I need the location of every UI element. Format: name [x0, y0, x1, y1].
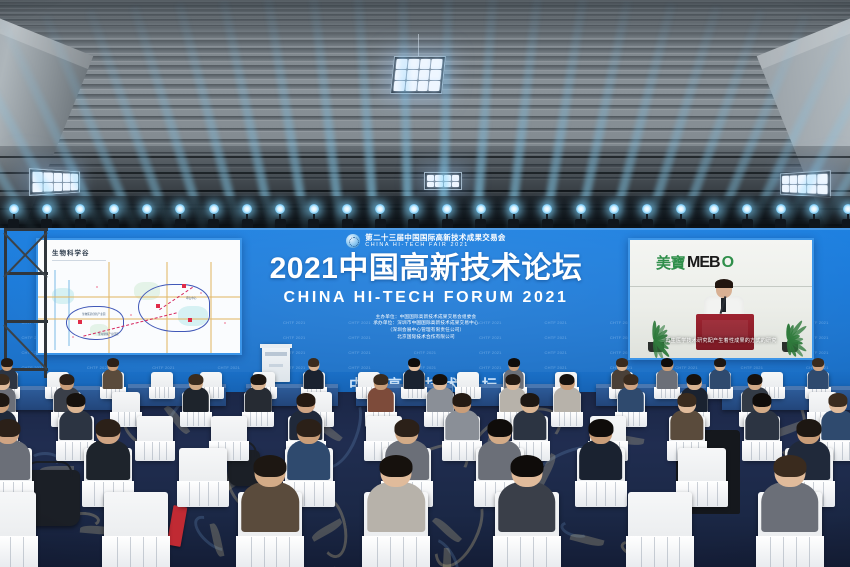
- moving-head-light: [809, 204, 820, 230]
- mebo-brand-logo: 美寶 MEB O: [656, 252, 733, 273]
- audience-hair: [588, 419, 613, 437]
- watermark-tile: CHTF 2021: [523, 350, 588, 355]
- audience-hair: [1, 358, 13, 367]
- watermark-tile: CHTF 2021: [327, 365, 392, 370]
- ceiling-rib: [0, 128, 850, 131]
- audience-hair: [0, 419, 20, 437]
- led-video-wall: CHTF 2021CHTF 2021CHTF 2021CHTF 2021CHTF…: [0, 228, 850, 376]
- audience-hair: [677, 393, 696, 407]
- watermark-tile: CHTF 2021: [458, 350, 523, 355]
- moving-head-light: [508, 204, 519, 230]
- ceiling-rib: [0, 116, 850, 120]
- audience-hair: [687, 374, 702, 385]
- audience-torso: [182, 387, 208, 411]
- moving-head-light: [175, 204, 186, 230]
- audience-chair: [104, 492, 168, 567]
- ceiling-light-panel-icon: [780, 170, 831, 198]
- audience-hair: [773, 455, 806, 477]
- moving-head-light: [608, 204, 619, 230]
- audience-hair: [296, 393, 315, 407]
- audience-hair: [254, 455, 287, 477]
- conference-hall-photo: CHTF 2021CHTF 2021CHTF 2021CHTF 2021CHTF…: [0, 0, 850, 567]
- audience-torso: [808, 369, 829, 389]
- audience-hair: [510, 455, 543, 477]
- audience-member: [247, 375, 270, 419]
- audience-torso: [498, 482, 556, 532]
- map-pin-icon: [156, 304, 160, 308]
- audience-hair: [453, 393, 472, 407]
- audience-hair: [308, 358, 320, 367]
- audience-member: [89, 420, 127, 492]
- audience-member: [515, 394, 544, 450]
- audience-hair: [813, 358, 825, 367]
- chtf-header: 第二十三届中国国际高新技术成果交易会 CHINA HI-TECH FAIR 20…: [228, 234, 624, 249]
- forum-title-en: CHINA HI-TECH FORUM 2021: [228, 289, 624, 307]
- audience-hair: [487, 419, 512, 437]
- map-pin-icon: [78, 320, 82, 324]
- moving-head-light: [575, 204, 586, 230]
- watermark-tile: CHTF 2021: [523, 365, 588, 370]
- moving-head-light: [275, 204, 286, 230]
- chtf-title-cn: 第二十三届中国国际高新技术成果交易会: [365, 234, 505, 242]
- mebo-brand-o: O: [722, 254, 733, 272]
- audience-torso: [404, 369, 425, 389]
- ceiling-light-panel-icon: [390, 56, 446, 94]
- audience-hair: [753, 393, 772, 407]
- moving-head-light: [375, 204, 386, 230]
- audience-member: [245, 456, 295, 548]
- watermark-tile: CHTF 2021: [131, 365, 196, 370]
- moving-head-light: [675, 204, 686, 230]
- audience-hair: [380, 455, 413, 477]
- ceiling-rib: [0, 25, 850, 32]
- audience-hair: [394, 419, 419, 437]
- audience-torso: [86, 440, 130, 480]
- audience-member: [658, 359, 676, 394]
- audience-torso: [670, 410, 703, 441]
- audience-member: [405, 359, 423, 394]
- lectern-icon: [696, 314, 754, 350]
- ceiling-rib: [0, 105, 850, 109]
- map-pin-icon: [188, 318, 192, 322]
- ceiling-rib: [0, 94, 850, 98]
- audience-hair: [623, 374, 638, 385]
- audience-torso: [241, 482, 299, 532]
- video-caption: 再生医学技术研究配产生着性成果的方式的研究: [630, 337, 812, 344]
- potted-palm-icon: [636, 302, 676, 352]
- moving-head-light: [75, 204, 86, 230]
- audience-hair: [432, 374, 447, 385]
- audience-member: [61, 394, 90, 450]
- watermark-tile: CHTF 2021: [392, 350, 457, 355]
- organizer-line: （深圳会展中心管理有限责任公司）: [228, 327, 624, 334]
- moving-head-light: [8, 204, 19, 230]
- moving-head-light: [41, 204, 52, 230]
- audience-chair: [628, 492, 692, 567]
- stage-light-bar: [0, 196, 850, 232]
- map-graphic: 生物医药创新产业园 生命健康产业园区 坪山中心: [38, 262, 240, 355]
- moving-head-light: [242, 204, 253, 230]
- organizer-line: 北京国际技术合作有限公司: [228, 334, 624, 341]
- mebo-brand-en: MEB: [687, 254, 720, 272]
- mebo-brand-cn: 美寶: [656, 252, 685, 273]
- right-video-panel: 美寶 MEB O 再生医学: [628, 238, 814, 360]
- audience-hair: [0, 374, 10, 385]
- ceiling-rib: [0, 48, 850, 54]
- moving-head-light: [308, 204, 319, 230]
- watermark-tile: CHTF 2021: [196, 365, 261, 370]
- audience-hair: [373, 374, 388, 385]
- map-pin-icon: [182, 284, 186, 288]
- audience-chair: [179, 448, 227, 506]
- left-slide-title: 生物科学谷: [52, 247, 240, 257]
- potted-palm-icon: [770, 302, 810, 352]
- map-label: 坪山中心: [186, 296, 196, 300]
- ceiling-light-panel-icon: [29, 168, 80, 196]
- audience-hair: [505, 374, 520, 385]
- audience-chair: [137, 416, 173, 460]
- audience-member: [556, 375, 579, 419]
- audience-torso: [761, 482, 819, 532]
- audience-member: [619, 375, 642, 419]
- audience-member: [448, 394, 477, 450]
- audience-member: [809, 359, 827, 394]
- left-slide-panel: 生物科学谷: [36, 238, 242, 355]
- moving-head-light: [475, 204, 486, 230]
- ceiling-rib: [0, 139, 850, 142]
- audience-member: [104, 359, 122, 394]
- audience-chair: [151, 372, 173, 398]
- audience-member: [673, 394, 702, 450]
- moving-head-light: [108, 204, 119, 230]
- moving-head-light: [642, 204, 653, 230]
- audience-chair: [0, 492, 36, 567]
- audience-hair: [96, 419, 121, 437]
- audience-torso: [446, 410, 479, 441]
- moving-head-light: [775, 204, 786, 230]
- map-label: 生命健康产业园区: [98, 332, 119, 336]
- audience-hair: [409, 358, 421, 367]
- fixture-hanger: [418, 34, 419, 58]
- audience-hair: [828, 393, 847, 407]
- audience-torso: [554, 387, 580, 411]
- forum-title-cn: 2021中国高新技术论坛: [228, 254, 624, 284]
- audience-torso: [657, 369, 678, 389]
- audience-torso: [368, 482, 426, 532]
- watermark-tile: CHTF 2021: [327, 350, 392, 355]
- audience-torso: [710, 369, 731, 389]
- chtf-title-en: CHINA HI-TECH FAIR 2021: [365, 243, 505, 249]
- audience-member: [502, 456, 552, 548]
- audience-torso: [245, 387, 271, 411]
- audience-member: [371, 456, 421, 548]
- audience-hair: [661, 358, 673, 367]
- audience-hair: [508, 358, 520, 367]
- audience-hair: [296, 419, 321, 437]
- audience-hair: [107, 358, 119, 367]
- audience-member: [369, 375, 392, 419]
- moving-head-light: [742, 204, 753, 230]
- audience-member: [765, 456, 815, 548]
- scaffold-tower: [4, 228, 48, 378]
- moving-head-light: [208, 204, 219, 230]
- audience-hair: [520, 393, 539, 407]
- audience-hair: [188, 374, 203, 385]
- organizer-line: 承办单位：深圳市中国国际高新技术成果交易中心: [228, 320, 624, 327]
- audience-torso: [617, 387, 643, 411]
- audience-torso: [746, 410, 779, 441]
- audience-member: [290, 420, 328, 492]
- audience-member: [184, 375, 207, 419]
- map-label: 生物医药创新产业园: [82, 312, 105, 316]
- watermark-tile: CHTF 2021: [719, 365, 784, 370]
- organizer-block: 主办单位：中国国际高新技术成果交易会组委会 承办单位：深圳市中国国际高新技术成果…: [228, 314, 624, 341]
- moving-head-light: [342, 204, 353, 230]
- audience-hair: [714, 358, 726, 367]
- audience-torso: [368, 387, 394, 411]
- watermark-tile: CHTF 2021: [392, 365, 457, 370]
- audience-torso: [102, 369, 123, 389]
- audience-torso: [59, 410, 92, 441]
- moving-head-light: [408, 204, 419, 230]
- audience-member: [582, 420, 620, 492]
- video-feed: 美寶 MEB O 再生医学: [630, 240, 812, 358]
- audience-member: [748, 394, 777, 450]
- audience-hair: [560, 374, 575, 385]
- audience-hair: [616, 358, 628, 367]
- moving-head-light: [709, 204, 720, 230]
- led-center-content: 第二十三届中国国际高新技术成果交易会 CHINA HI-TECH FAIR 20…: [228, 230, 624, 340]
- audience-hair: [0, 393, 9, 407]
- moving-head-light: [842, 204, 850, 230]
- audience-hair: [748, 374, 763, 385]
- audience-torso: [0, 440, 30, 480]
- audience-hair: [66, 393, 85, 407]
- audience-member: [305, 359, 323, 394]
- moving-head-light: [542, 204, 553, 230]
- audience-hair: [59, 374, 74, 385]
- audience-member: [711, 359, 729, 394]
- audience-hair: [251, 374, 266, 385]
- ceiling-light-panel-icon: [424, 172, 462, 190]
- audience-member: [0, 420, 27, 492]
- ceiling-rib: [0, 32, 850, 38]
- moving-head-light: [442, 204, 453, 230]
- ceiling-rib: [0, 40, 850, 46]
- chtf-emblem-icon: [346, 234, 360, 248]
- audience-hair: [796, 419, 821, 437]
- audience-torso: [303, 369, 324, 389]
- moving-head-light: [141, 204, 152, 230]
- audience-torso: [579, 440, 623, 480]
